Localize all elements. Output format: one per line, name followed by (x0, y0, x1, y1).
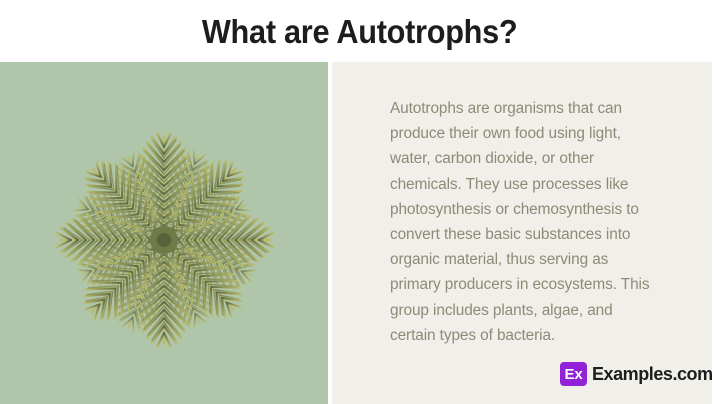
brand-logo[interactable]: Ex Examples.com (560, 362, 713, 386)
examples-badge-icon: Ex (560, 362, 587, 386)
page-title: What are Autotrophs? (202, 15, 518, 48)
infographic-slide: What are Autotrophs? (0, 0, 720, 404)
plant-illustration (34, 110, 294, 370)
header-bar: What are Autotrophs? (0, 0, 720, 62)
text-panel: Autotrophs are organisms that can produc… (332, 62, 712, 404)
definition-paragraph: Autotrophs are organisms that can produc… (390, 96, 662, 348)
image-panel (0, 62, 328, 404)
brand-name: Examples.com (592, 365, 713, 383)
